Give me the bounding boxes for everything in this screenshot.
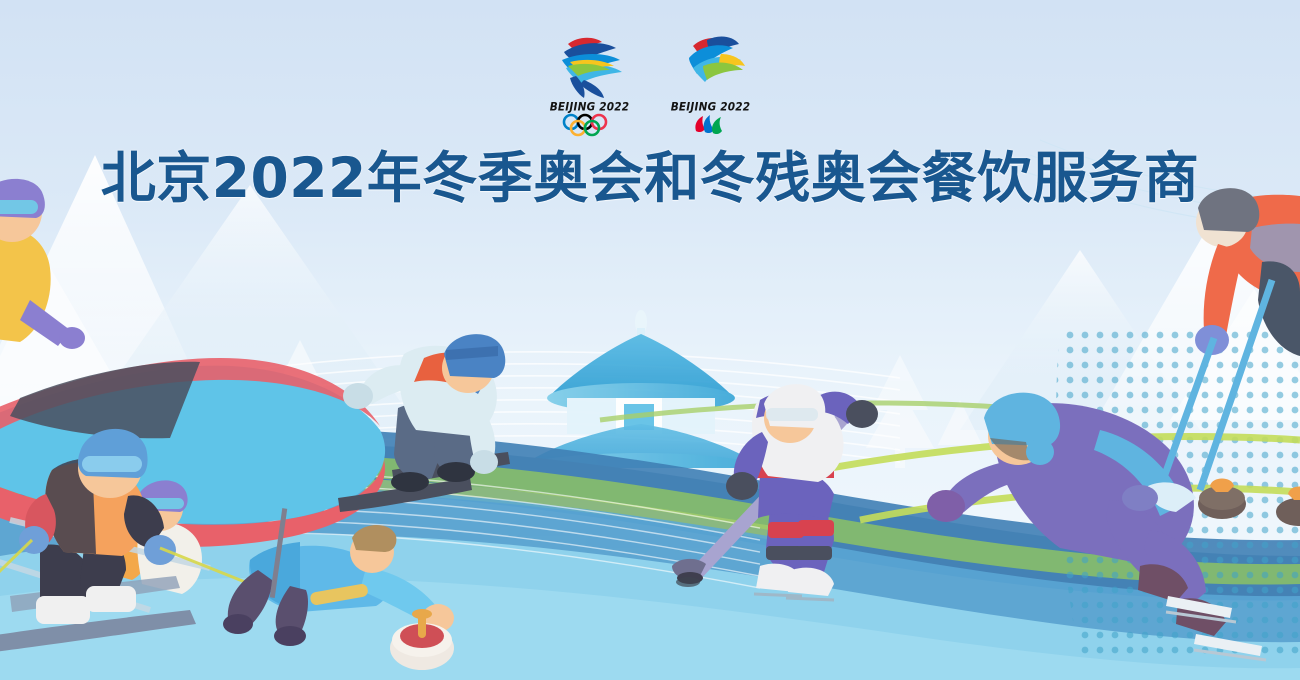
page-title: 北京2022年冬季奥会和冬残奥会餐饮服务商	[0, 146, 1300, 210]
emblem-row: BEIJING 2022 BEIJING 2022	[0, 32, 1300, 134]
olympic-wordmark: BEIJING 2022	[542, 100, 637, 113]
agitos-icon	[663, 113, 758, 137]
paralympic-wordmark: BEIJING 2022	[663, 100, 758, 113]
olympic-emblem-mark	[542, 32, 637, 100]
paralympic-emblem-mark	[663, 32, 758, 100]
paralympic-emblem: BEIJING 2022	[663, 32, 758, 134]
hockey-puck	[676, 577, 700, 587]
olympic-rings-icon	[542, 113, 637, 137]
athlete-ice-hockey-player	[672, 384, 878, 600]
olympic-emblem: BEIJING 2022	[542, 32, 637, 134]
athlete-speed-skater	[927, 393, 1266, 660]
olympic-banner: BEIJING 2022 BEIJING 2022	[0, 0, 1300, 680]
